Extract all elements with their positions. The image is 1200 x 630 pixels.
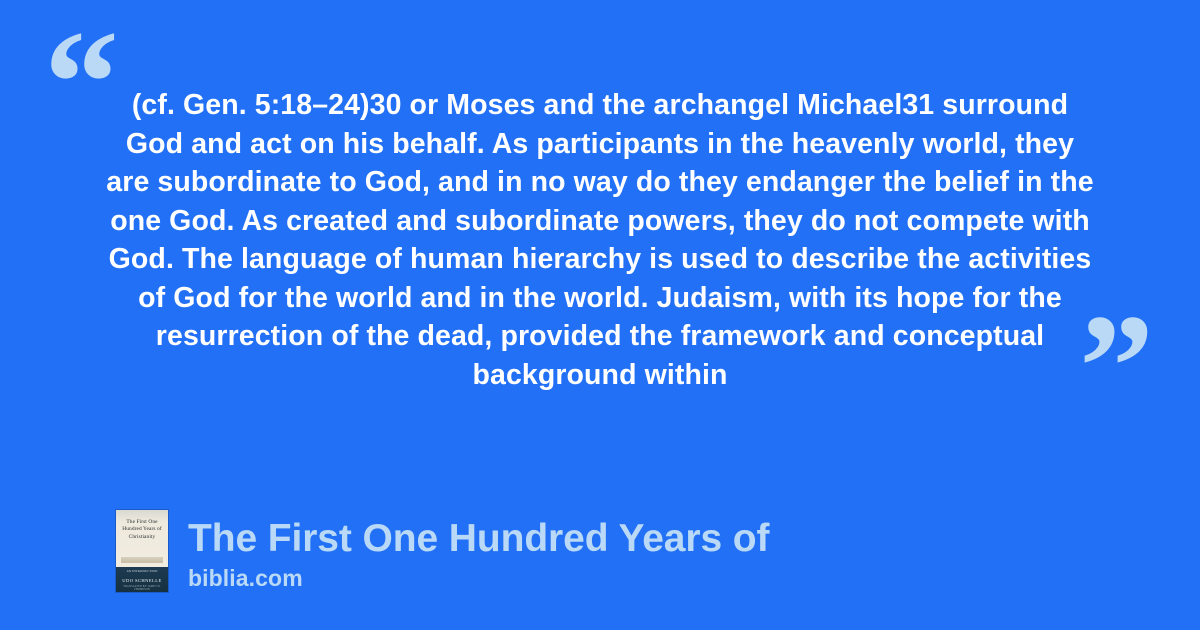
book-cover-author: UDO SCHNELLE bbox=[118, 578, 166, 584]
footer-text-group: The First One Hundred Years of biblia.co… bbox=[188, 517, 769, 592]
footer: The First One Hundred Years of Christian… bbox=[116, 510, 769, 592]
quote-card: “ (cf. Gen. 5:18–24)30 or Moses and the … bbox=[0, 0, 1200, 630]
quote-block: (cf. Gen. 5:18–24)30 or Moses and the ar… bbox=[104, 86, 1096, 394]
book-title: The First One Hundred Years of bbox=[188, 517, 769, 561]
quote-text: (cf. Gen. 5:18–24)30 or Moses and the ar… bbox=[104, 86, 1096, 394]
book-cover-subtitle: AN INTRODUCTION bbox=[118, 569, 166, 573]
book-cover-author-note: TRANSLATED BY JAMES W. THOMPSON bbox=[118, 585, 166, 592]
book-cover-thumbnail: The First One Hundred Years of Christian… bbox=[116, 510, 168, 592]
site-name[interactable]: biblia.com bbox=[188, 565, 769, 591]
book-cover-ornament bbox=[121, 557, 163, 563]
closing-quote-icon: ” bbox=[1079, 292, 1154, 442]
book-cover-lower-panel: AN INTRODUCTION UDO SCHNELLE TRANSLATED … bbox=[116, 567, 168, 592]
book-cover-title: The First One Hundred Years of Christian… bbox=[118, 519, 166, 541]
